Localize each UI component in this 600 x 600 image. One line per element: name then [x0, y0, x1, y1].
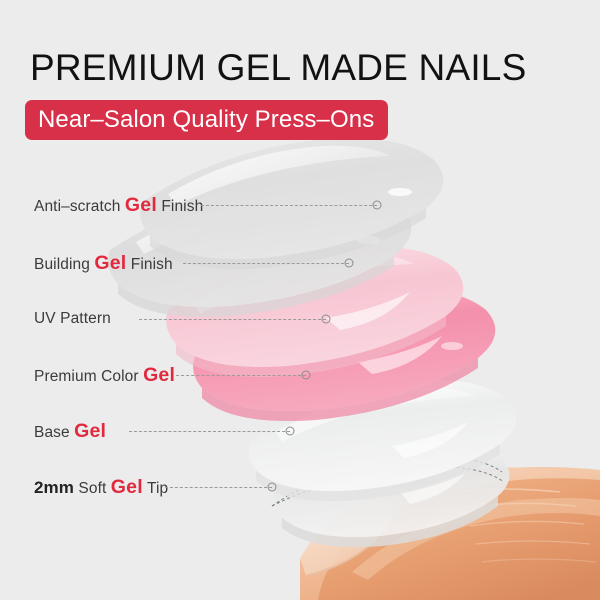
leader-line	[139, 319, 326, 321]
callout-label: Building Gel Finish	[34, 252, 173, 275]
callout-base-gel: Base Gel	[34, 420, 106, 442]
leader-line	[183, 263, 349, 265]
label-text: UV Pattern	[34, 310, 111, 327]
leader-line	[201, 205, 377, 207]
thickness-emphasis: 2mm	[34, 478, 74, 497]
callout-list: Anti–scratch Gel FinishBuilding Gel Fini…	[0, 0, 600, 600]
gel-emphasis: Gel	[74, 420, 106, 442]
callout-anti-scratch-gel-finish: Anti–scratch Gel Finish	[34, 194, 203, 216]
leader-line	[129, 431, 290, 433]
label-text: Building	[34, 256, 94, 273]
gel-emphasis: Gel	[125, 194, 157, 216]
callout-uv-pattern: UV Pattern	[34, 308, 111, 330]
leader-line	[165, 487, 272, 489]
callout-label: 2mm Soft Gel Tip	[34, 476, 168, 499]
callout-label: UV Pattern	[34, 310, 111, 328]
label-text: Anti–scratch	[34, 198, 125, 215]
callout-label: Anti–scratch Gel Finish	[34, 194, 203, 217]
callout-label: Premium Color Gel	[34, 364, 175, 387]
callout-soft-gel-tip: 2mm Soft Gel Tip	[34, 476, 168, 498]
label-text: Base	[34, 424, 74, 441]
callout-label: Base Gel	[34, 420, 106, 443]
gel-emphasis: Gel	[111, 476, 143, 498]
leader-endpoint-dot	[345, 259, 354, 268]
gel-emphasis: Gel	[94, 252, 126, 274]
leader-endpoint-dot	[302, 371, 311, 380]
product-infographic: PREMIUM GEL MADE NAILS Near–Salon Qualit…	[0, 0, 600, 600]
leader-endpoint-dot	[286, 427, 295, 436]
label-text: Soft	[74, 480, 111, 497]
label-text: Finish	[126, 256, 172, 273]
label-text: Finish	[157, 198, 203, 215]
callout-building-gel-finish: Building Gel Finish	[34, 252, 173, 274]
leader-endpoint-dot	[322, 315, 331, 324]
leader-endpoint-dot	[268, 483, 277, 492]
leader-endpoint-dot	[373, 201, 382, 210]
callout-premium-color-gel: Premium Color Gel	[34, 364, 175, 386]
gel-emphasis: Gel	[143, 364, 175, 386]
label-text: Premium Color	[34, 368, 143, 385]
leader-line	[176, 375, 306, 377]
